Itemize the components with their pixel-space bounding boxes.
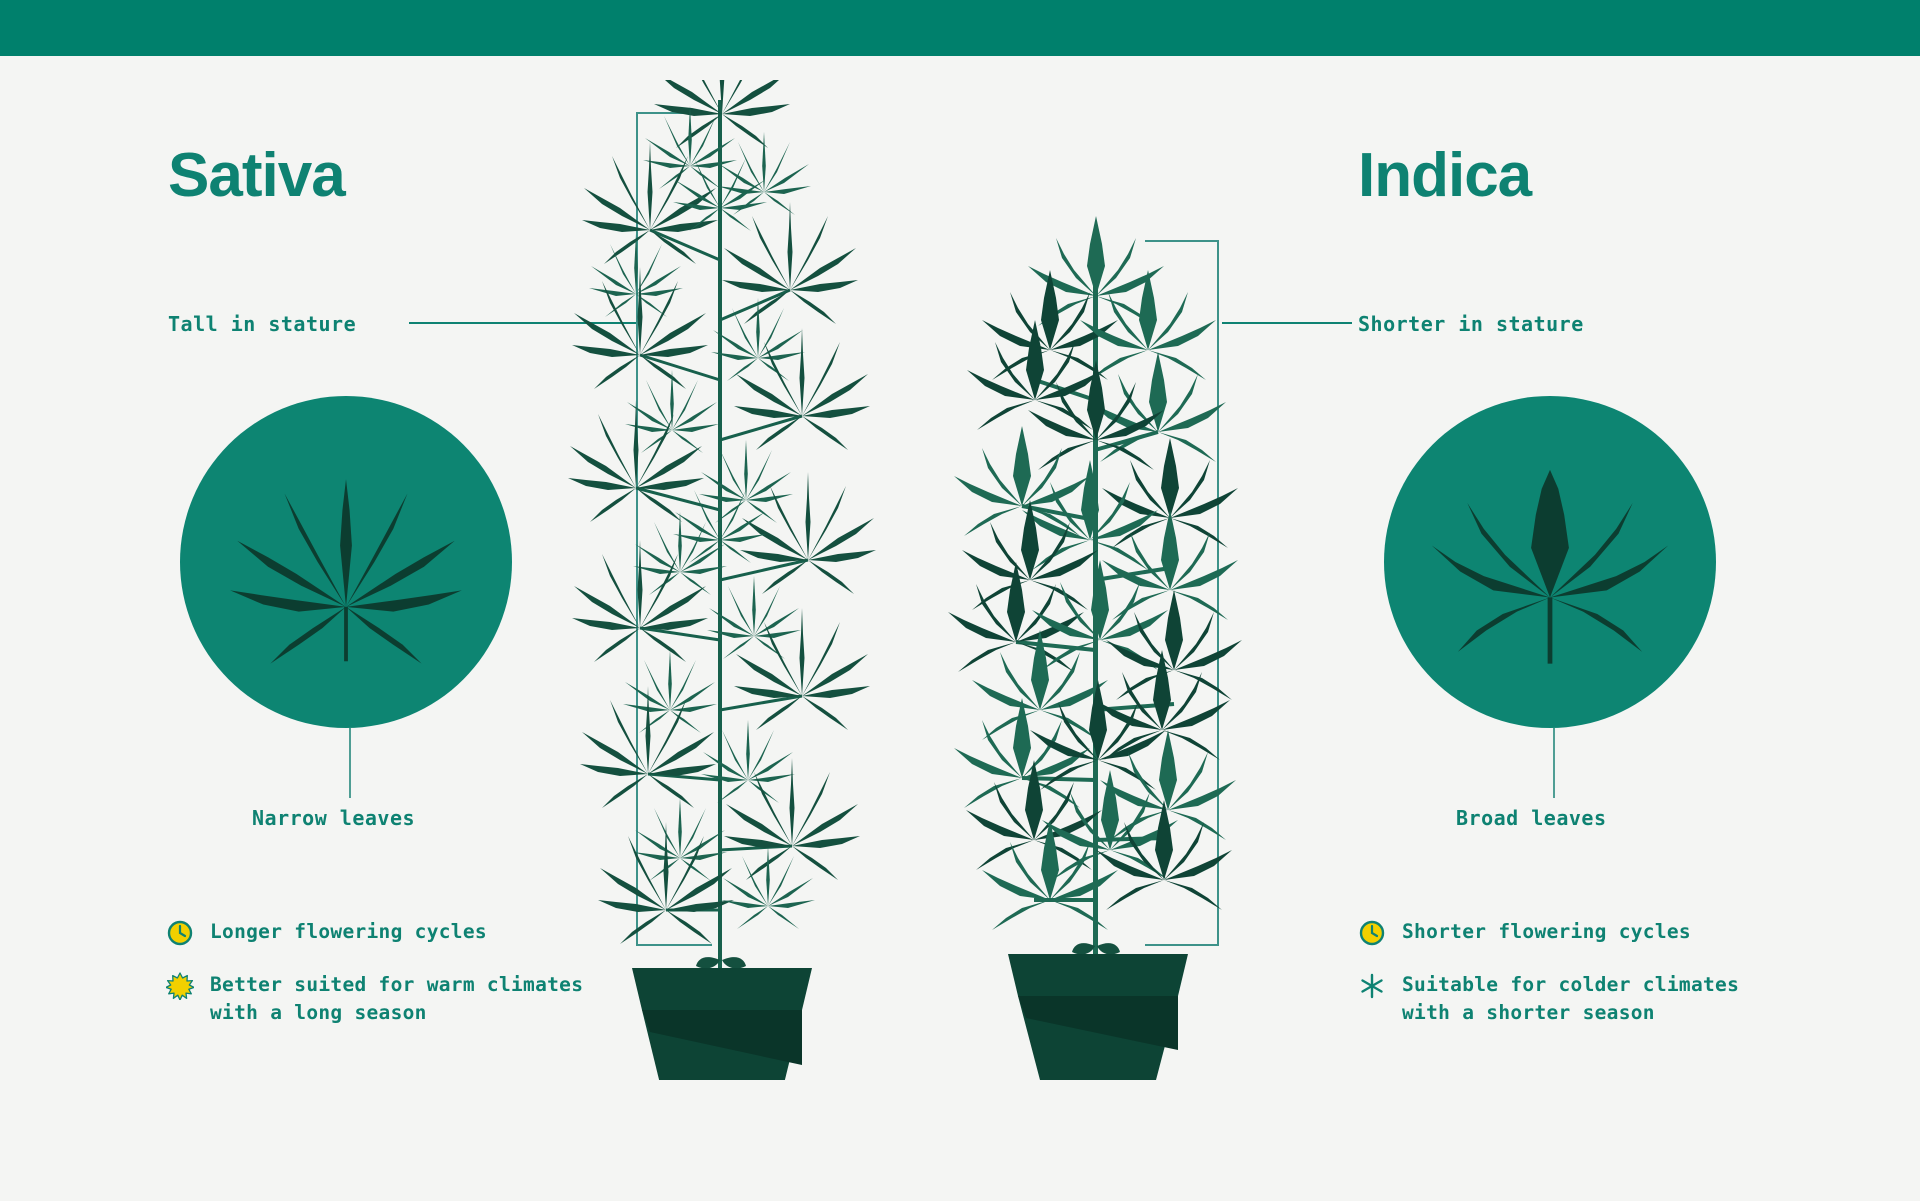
label-narrow-leaves: Narrow leaves [252,808,415,828]
plant-pot [1008,954,1188,1080]
list-item-label: Suitable for colder climates with a shor… [1402,971,1788,1027]
list-item-label: Longer flowering cycles [210,918,487,946]
leaf-badge-indica [1384,396,1716,728]
clock-icon [1358,919,1386,947]
list-item: Better suited for warm climates with a l… [166,971,596,1027]
list-item-label: Better suited for warm climates with a l… [210,971,596,1027]
list-item-label: Shorter flowering cycles [1402,918,1691,946]
clock-icon [166,919,194,947]
label-broad-leaves: Broad leaves [1456,808,1607,828]
plant-pot [632,968,812,1080]
leaf-badge-sativa [180,396,512,728]
leader-line-narrow-leaves [349,728,351,798]
leader-line-broad-leaves [1553,728,1555,798]
sun-icon [166,972,194,1000]
plant-illustration-indica [930,200,1280,1080]
feature-list-indica: Shorter flowering cycles Suitable for co… [1358,918,1788,1051]
snowflake-icon [1358,972,1386,1000]
narrow-leaf-icon [216,432,476,692]
page-title-sativa: Sativa [168,145,345,207]
infographic-canvas: Sativa Indica Tall in stature Shorter in… [0,0,1920,1201]
label-shorter-in-stature: Shorter in stature [1358,314,1584,334]
feature-list-sativa: Longer flowering cycles Better suited fo… [166,918,596,1051]
label-tall-in-stature: Tall in stature [168,314,356,334]
page-title-indica: Indica [1358,145,1531,207]
top-accent-bar [0,0,1920,56]
broad-leaf-icon [1420,432,1680,692]
list-item: Suitable for colder climates with a shor… [1358,971,1788,1027]
plant-illustration-sativa [540,80,920,1080]
list-item: Shorter flowering cycles [1358,918,1788,947]
list-item: Longer flowering cycles [166,918,596,947]
